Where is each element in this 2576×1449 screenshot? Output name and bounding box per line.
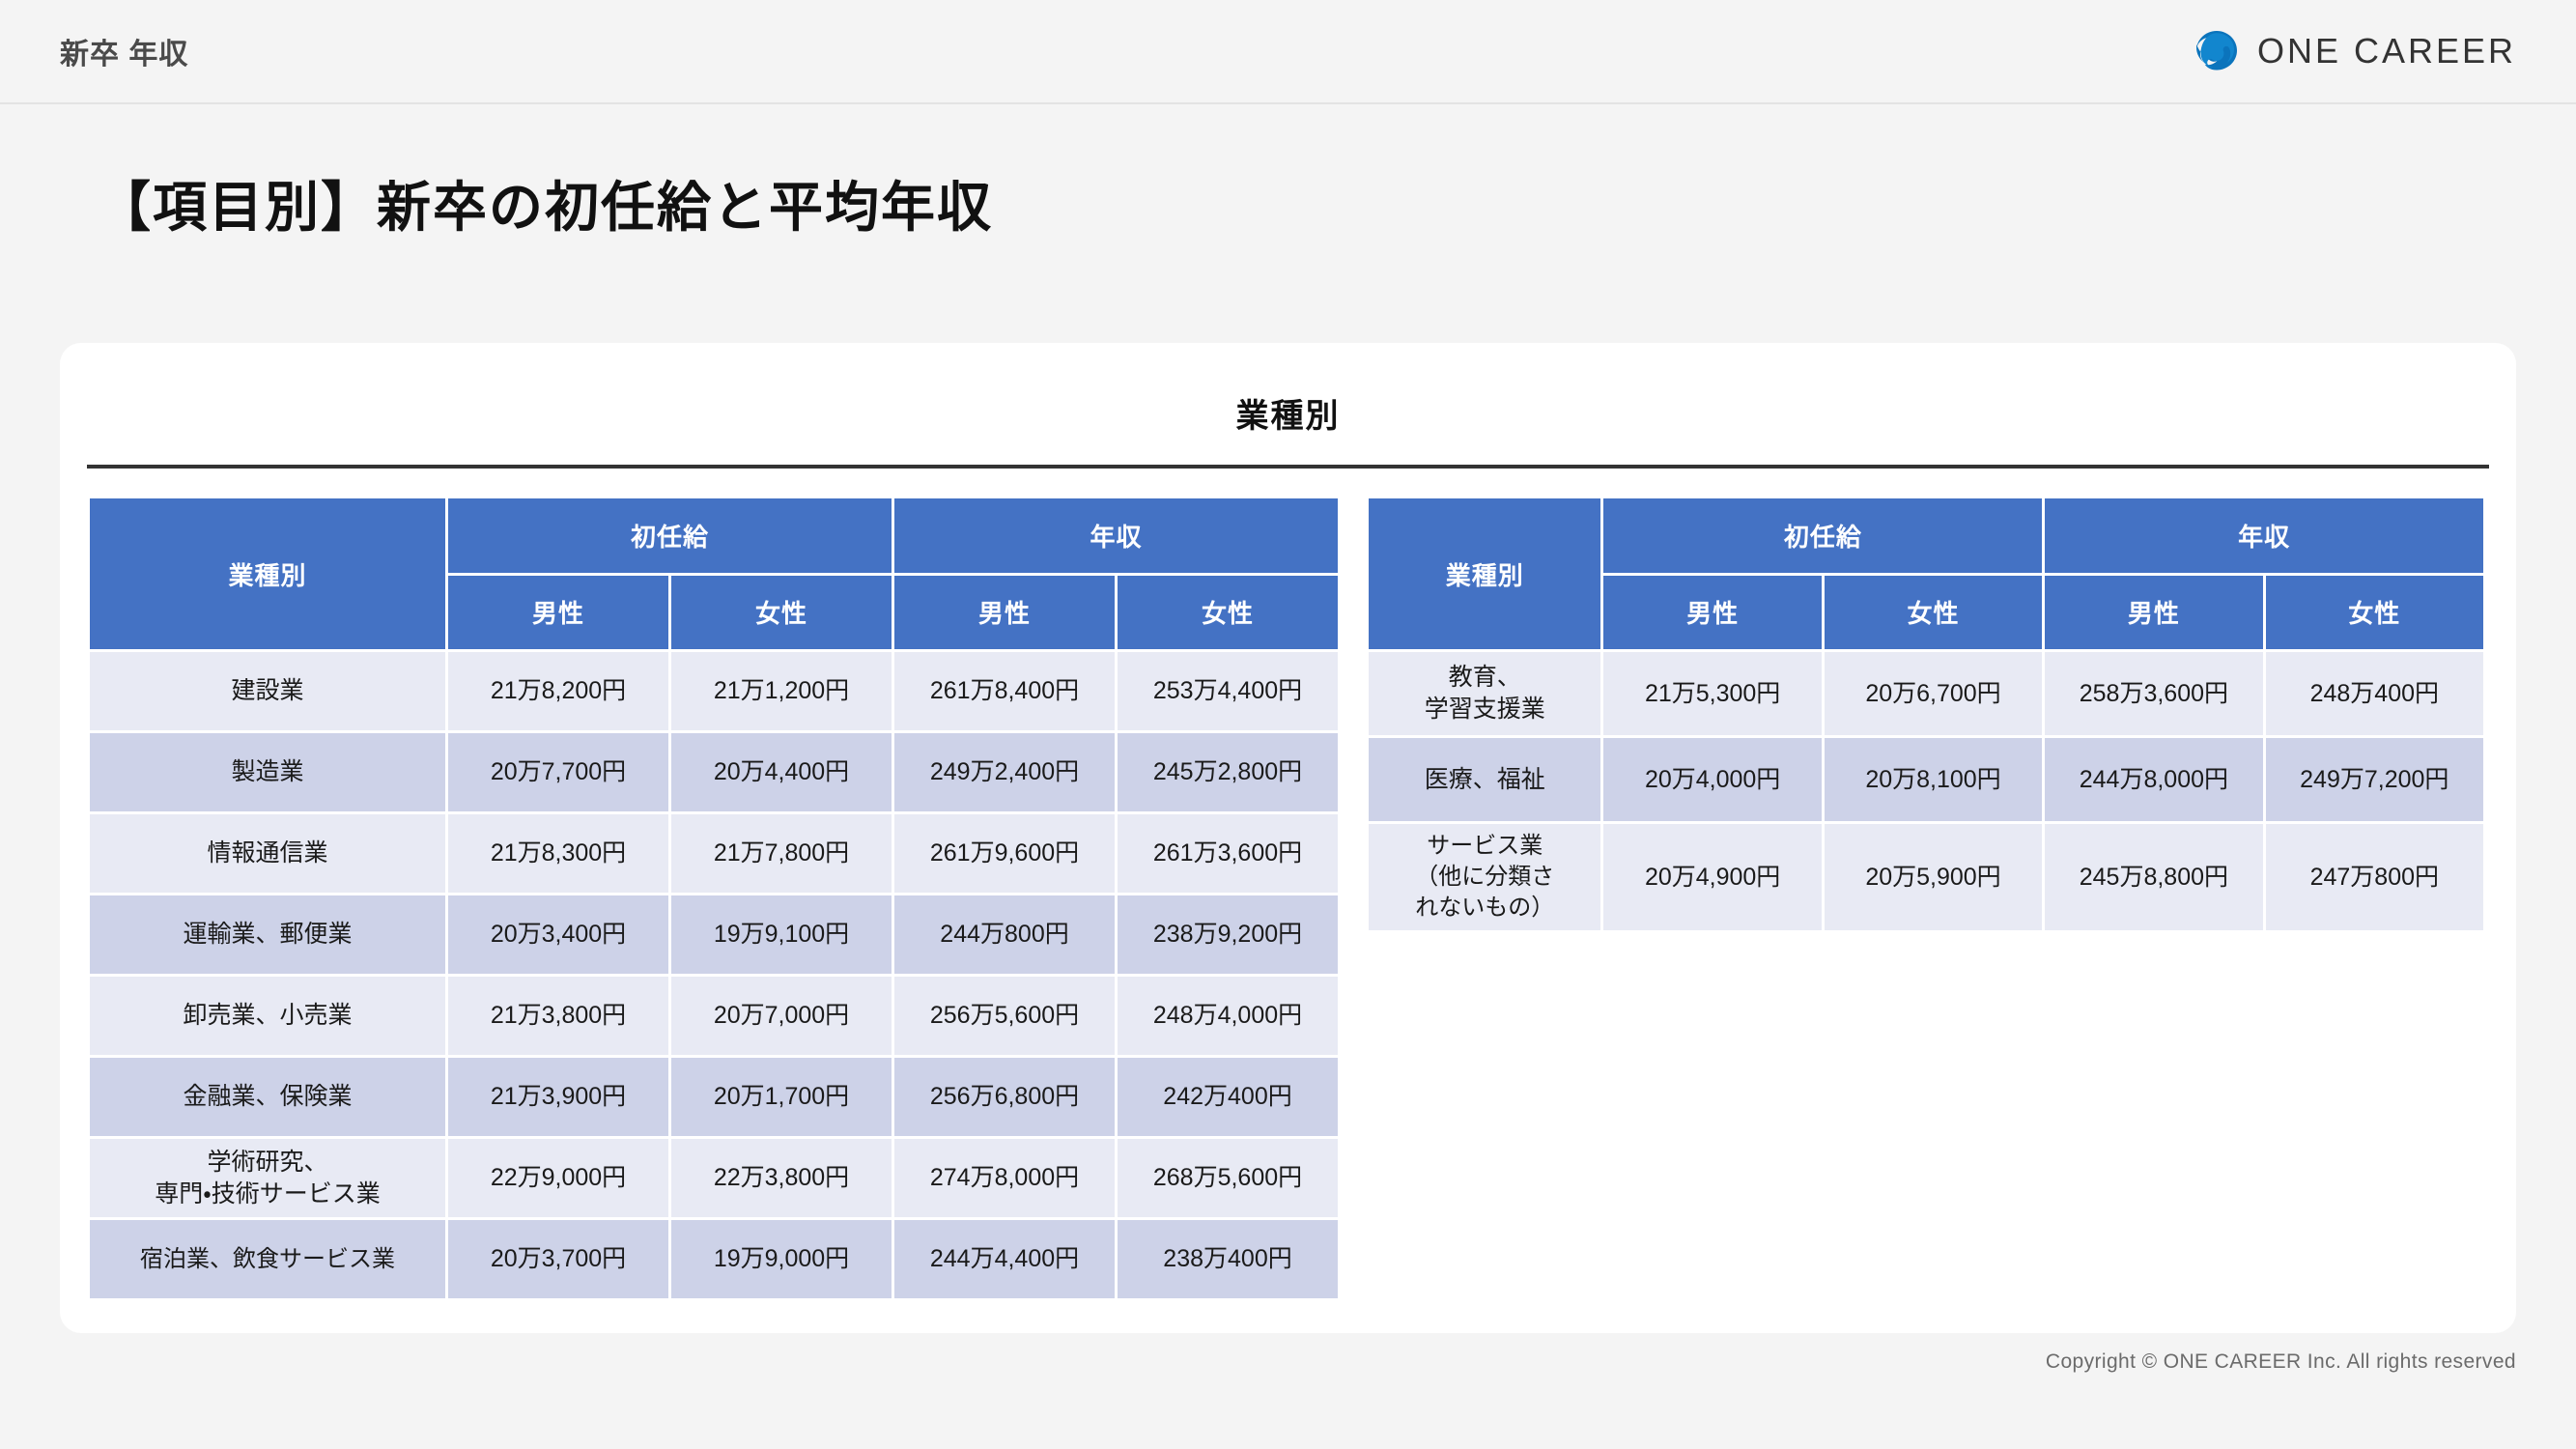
cell-salary-male: 20万4,000円: [1603, 738, 1821, 821]
table-row: 卸売業、小売業 21万3,800円 20万7,000円 256万5,600円 2…: [90, 977, 1338, 1055]
cell-income-female: 261万3,600円: [1118, 814, 1338, 893]
cell-category: 製造業: [90, 733, 445, 811]
table-row: 製造業 20万7,700円 20万4,400円 249万2,400円 245万2…: [90, 733, 1338, 811]
table-left-head: 業種別 初任給 年収 男性 女性 男性 女性: [90, 498, 1338, 649]
cell-income-female: 238万400円: [1118, 1220, 1338, 1298]
header-income-male: 男性: [894, 576, 1115, 650]
cell-salary-female: 20万6,700円: [1825, 652, 2042, 735]
table-row: 医療、福祉 20万4,000円 20万8,100円 244万8,000円 249…: [1369, 738, 2483, 821]
header-category: 業種別: [1369, 498, 1600, 649]
cell-category: 医療、福祉: [1369, 738, 1600, 821]
cell-salary-female: 20万8,100円: [1825, 738, 2042, 821]
brand-logo: ONE CAREER: [2194, 28, 2516, 74]
table-row: 建設業 21万8,200円 21万1,200円 261万8,400円 253万4…: [90, 652, 1338, 730]
cell-category: サービス業（他に分類されないもの）: [1369, 824, 1600, 930]
cell-income-male: 244万4,400円: [894, 1220, 1115, 1298]
table-row: 教育、学習支援業 21万5,300円 20万6,700円 258万3,600円 …: [1369, 652, 2483, 735]
table-right-header-row-1: 業種別 初任給 年収: [1369, 498, 2483, 573]
cell-salary-male: 21万8,300円: [448, 814, 668, 893]
cell-income-female: 248万400円: [2266, 652, 2483, 735]
cell-income-female: 242万400円: [1118, 1058, 1338, 1136]
card-divider: [87, 465, 2489, 469]
cell-salary-female: 22万3,800円: [671, 1139, 892, 1217]
card-title: 業種別: [60, 389, 2516, 437]
table-right-body: 教育、学習支援業 21万5,300円 20万6,700円 258万3,600円 …: [1369, 652, 2483, 930]
cell-salary-male: 22万9,000円: [448, 1139, 668, 1217]
table-row: 情報通信業 21万8,300円 21万7,800円 261万9,600円 261…: [90, 814, 1338, 893]
breadcrumb-label: 新卒 年収: [60, 30, 188, 72]
cell-income-male: 261万8,400円: [894, 652, 1115, 730]
cell-income-female: 253万4,400円: [1118, 652, 1338, 730]
tables-container: 業種別 初任給 年収 男性 女性 男性 女性 建設業 21万8,200円 21万…: [87, 496, 2492, 1301]
industry-table-right: 業種別 初任給 年収 男性 女性 男性 女性 教育、学習支援業 21万5,300…: [1366, 496, 2486, 933]
header-income-female: 女性: [2266, 576, 2483, 650]
header-salary-male: 男性: [448, 576, 668, 650]
table-row: 金融業、保険業 21万3,900円 20万1,700円 256万6,800円 2…: [90, 1058, 1338, 1136]
cell-salary-female: 21万1,200円: [671, 652, 892, 730]
cell-income-female: 238万9,200円: [1118, 895, 1338, 974]
cell-income-female: 249万7,200円: [2266, 738, 2483, 821]
cell-income-female: 245万2,800円: [1118, 733, 1338, 811]
cell-income-male: 249万2,400円: [894, 733, 1115, 811]
header-salary-female: 女性: [1825, 576, 2042, 650]
cell-income-male: 245万8,800円: [2045, 824, 2262, 930]
cell-income-male: 256万6,800円: [894, 1058, 1115, 1136]
cell-income-male: 274万8,000円: [894, 1139, 1115, 1217]
table-left-body: 建設業 21万8,200円 21万1,200円 261万8,400円 253万4…: [90, 652, 1338, 1298]
top-bar: 新卒 年収 ONE CAREER: [0, 0, 2576, 104]
cell-category: 運輸業、郵便業: [90, 895, 445, 974]
header-group-starting-salary: 初任給: [448, 498, 892, 573]
cell-category: 金融業、保険業: [90, 1058, 445, 1136]
cell-category: 卸売業、小売業: [90, 977, 445, 1055]
page-title: 【項目別】新卒の初任給と平均年収: [97, 164, 993, 242]
copyright-text: Copyright © ONE CAREER Inc. All rights r…: [2046, 1350, 2516, 1374]
header-salary-female: 女性: [671, 576, 892, 650]
cell-salary-male: 21万3,800円: [448, 977, 668, 1055]
one-career-swirl-icon: [2194, 28, 2240, 74]
cell-salary-male: 20万3,700円: [448, 1220, 668, 1298]
cell-income-male: 256万5,600円: [894, 977, 1115, 1055]
cell-category: 建設業: [90, 652, 445, 730]
cell-income-male: 258万3,600円: [2045, 652, 2262, 735]
table-row: 宿泊業、飲食サービス業 20万3,700円 19万9,000円 244万4,40…: [90, 1220, 1338, 1298]
table-row: 学術研究、専門・技術サービス業 22万9,000円 22万3,800円 274万…: [90, 1139, 1338, 1217]
cell-income-male: 261万9,600円: [894, 814, 1115, 893]
cell-salary-male: 20万4,900円: [1603, 824, 1821, 930]
cell-salary-male: 20万7,700円: [448, 733, 668, 811]
table-row: 運輸業、郵便業 20万3,400円 19万9,100円 244万800円 238…: [90, 895, 1338, 974]
header-income-male: 男性: [2045, 576, 2262, 650]
cell-salary-female: 20万5,900円: [1825, 824, 2042, 930]
cell-category: 宿泊業、飲食サービス業: [90, 1220, 445, 1298]
header-group-annual-income: 年収: [894, 498, 1338, 573]
cell-income-female: 268万5,600円: [1118, 1139, 1338, 1217]
cell-salary-male: 21万3,900円: [448, 1058, 668, 1136]
cell-salary-female: 20万4,400円: [671, 733, 892, 811]
header-group-starting-salary: 初任給: [1603, 498, 2042, 573]
table-left-header-row-1: 業種別 初任給 年収: [90, 498, 1338, 573]
cell-category: 教育、学習支援業: [1369, 652, 1600, 735]
cell-income-female: 247万800円: [2266, 824, 2483, 930]
header-group-annual-income: 年収: [2045, 498, 2483, 573]
cell-salary-female: 19万9,000円: [671, 1220, 892, 1298]
header-income-female: 女性: [1118, 576, 1338, 650]
cell-category: 学術研究、専門・技術サービス業: [90, 1139, 445, 1217]
header-salary-male: 男性: [1603, 576, 1821, 650]
cell-salary-female: 20万7,000円: [671, 977, 892, 1055]
brand-name: ONE CAREER: [2257, 31, 2516, 71]
cell-salary-male: 20万3,400円: [448, 895, 668, 974]
cell-income-male: 244万8,000円: [2045, 738, 2262, 821]
content-card: 業種別 業種別 初任給 年収 男性 女性 男性 女性: [60, 343, 2516, 1333]
cell-salary-female: 21万7,800円: [671, 814, 892, 893]
table-right-head: 業種別 初任給 年収 男性 女性 男性 女性: [1369, 498, 2483, 649]
industry-table-left: 業種別 初任給 年収 男性 女性 男性 女性 建設業 21万8,200円 21万…: [87, 496, 1341, 1301]
table-row: サービス業（他に分類されないもの） 20万4,900円 20万5,900円 24…: [1369, 824, 2483, 930]
cell-salary-male: 21万8,200円: [448, 652, 668, 730]
cell-salary-female: 19万9,100円: [671, 895, 892, 974]
cell-salary-male: 21万5,300円: [1603, 652, 1821, 735]
header-category: 業種別: [90, 498, 445, 649]
cell-income-female: 248万4,000円: [1118, 977, 1338, 1055]
cell-category: 情報通信業: [90, 814, 445, 893]
cell-salary-female: 20万1,700円: [671, 1058, 892, 1136]
cell-income-male: 244万800円: [894, 895, 1115, 974]
